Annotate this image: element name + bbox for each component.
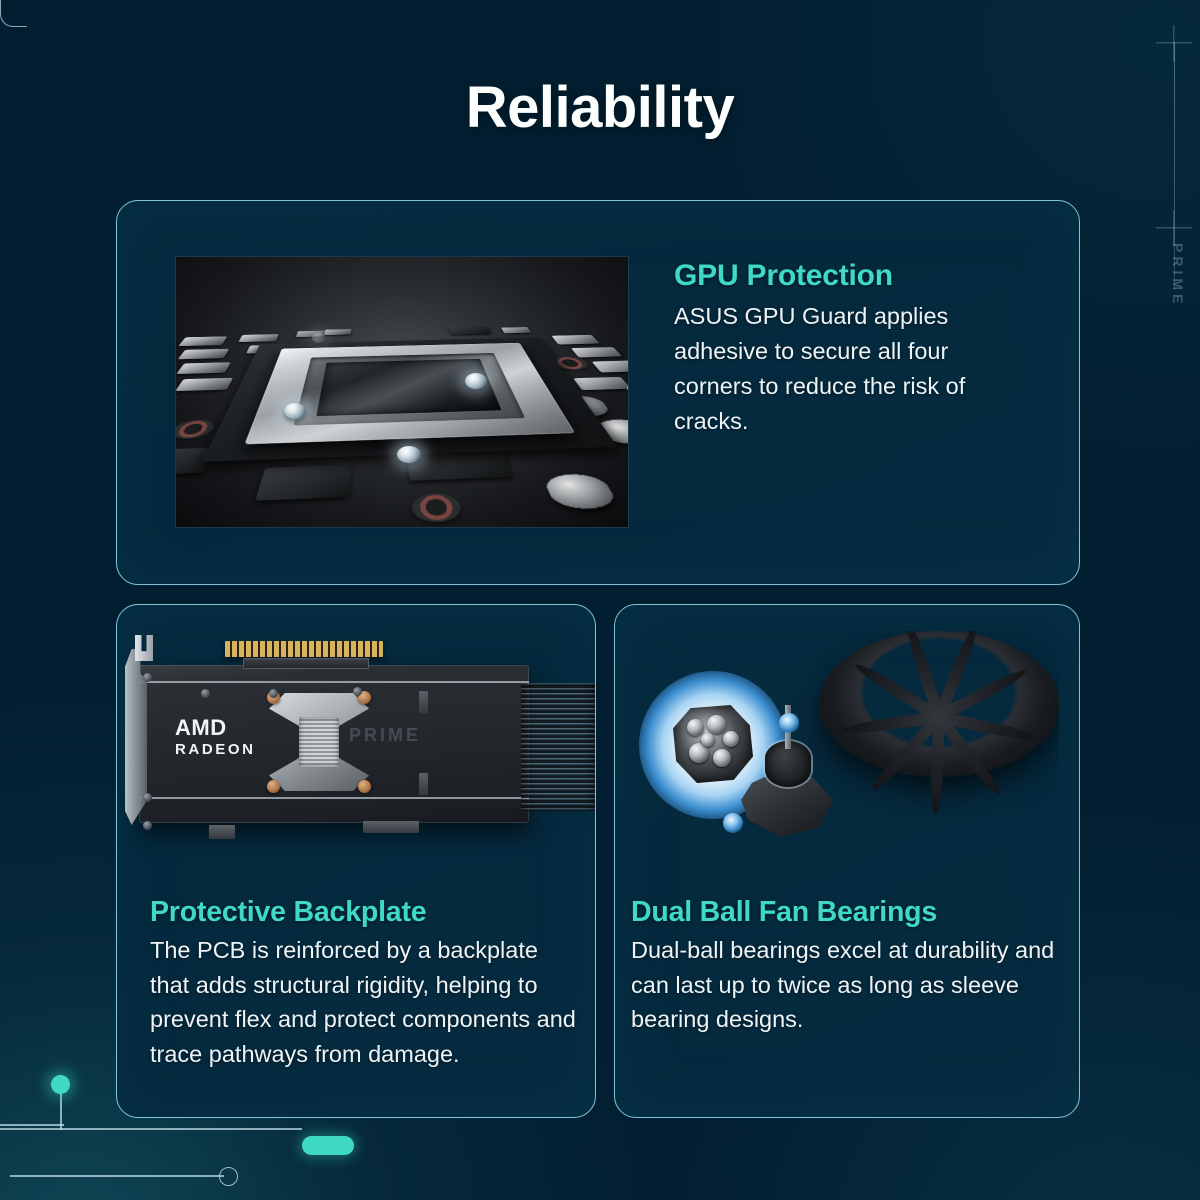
circuit-trace-line	[0, 1124, 64, 1126]
card-protective-backplate: AMD RADEON PRIME Protective Backplate Th…	[116, 604, 596, 1118]
dual-ball-fan-bearings-body: Dual-ball bearings excel at durability a…	[631, 933, 1076, 1037]
circuit-trace-line	[0, 1128, 302, 1130]
adhesive-dot	[312, 333, 326, 343]
heatsink-fins	[521, 683, 595, 811]
gpu-protection-text-block: GPU Protection ASUS GPU Guard applies ad…	[674, 259, 1024, 439]
plus-mark-icon	[1156, 210, 1192, 246]
dual-ball-fan-bearings-heading: Dual Ball Fan Bearings	[631, 896, 1076, 929]
bracket-prongs	[135, 635, 153, 661]
fan-bearing-exploded-photo	[639, 631, 1059, 876]
protective-backplate-body: The PCB is reinforced by a backplate tha…	[150, 933, 582, 1071]
prime-edge-label: PRIME	[1170, 243, 1186, 307]
hub-screw-glow	[723, 813, 743, 833]
circuit-trace-stem	[60, 1090, 62, 1130]
gpu-protection-body: ASUS GPU Guard applies adhesive to secur…	[674, 299, 1024, 439]
gpu-protection-heading: GPU Protection	[674, 259, 1024, 293]
card-dual-ball-fan-bearings: Dual Ball Fan Bearings Dual-ball bearing…	[614, 604, 1080, 1118]
prime-watermark: PRIME	[349, 725, 421, 746]
circuit-trace-elbow	[0, 0, 27, 27]
card-gpu-protection: GPU Protection ASUS GPU Guard applies ad…	[116, 200, 1080, 585]
reliability-infographic: Reliability	[0, 0, 1200, 1200]
page-title: Reliability	[0, 74, 1200, 141]
hub-screw-glow	[779, 713, 799, 733]
circuit-node-dot	[51, 1075, 70, 1094]
amd-radeon-logo: AMD RADEON	[175, 717, 256, 757]
circuit-trace-line	[10, 1175, 224, 1177]
fan-hub-assembly	[727, 727, 843, 845]
circuit-node-ring	[219, 1167, 238, 1186]
fan-blade-ring	[819, 631, 1059, 777]
graphics-card-backplate-photo: AMD RADEON PRIME	[117, 625, 595, 875]
circuit-accent-pill	[302, 1136, 354, 1155]
pcie-gold-fingers	[225, 641, 383, 657]
gpu-die-closeup-photo	[176, 257, 628, 527]
protective-backplate-text-block: Protective Backplate The PCB is reinforc…	[150, 896, 582, 1071]
plus-mark-icon	[1156, 25, 1192, 61]
dual-ball-fan-bearings-text-block: Dual Ball Fan Bearings Dual-ball bearing…	[631, 896, 1076, 1037]
protective-backplate-heading: Protective Backplate	[150, 896, 582, 929]
